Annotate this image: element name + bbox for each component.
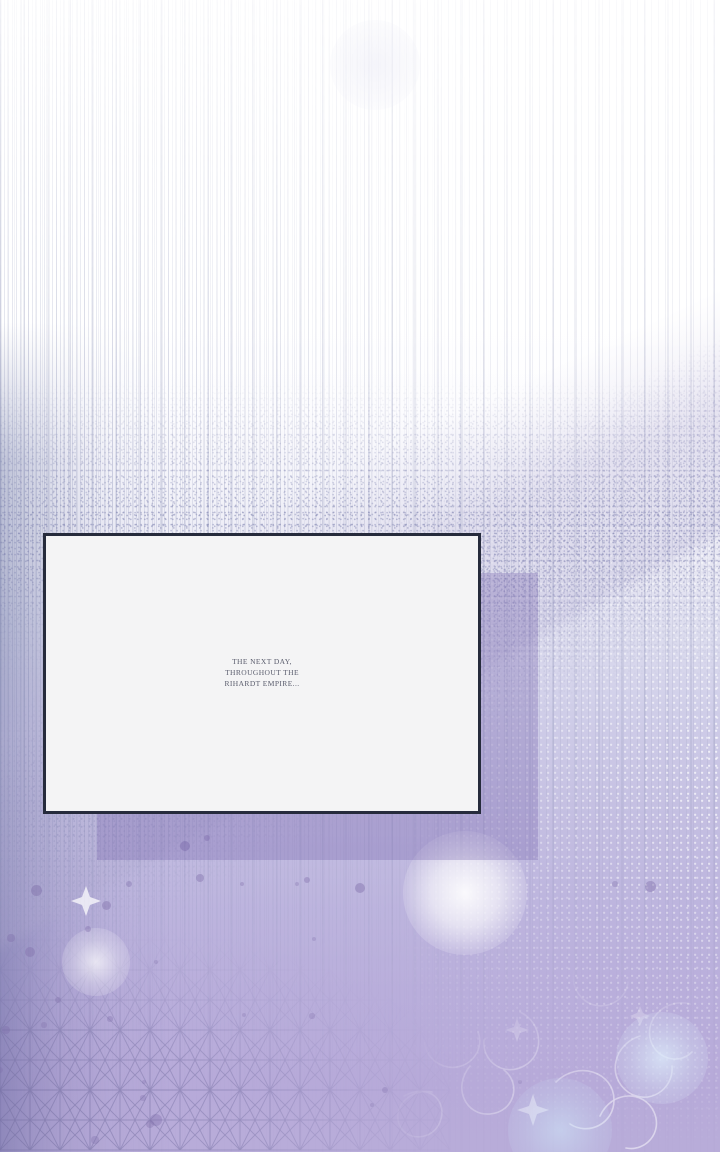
- caption-text: THE NEXT DAY, THROUGHOUT THE RIHARDT EMP…: [46, 657, 478, 689]
- decor-dot: [31, 885, 42, 896]
- glow-center-bottom: [403, 831, 527, 955]
- decor-dot: [85, 926, 91, 932]
- caption-line-2: THROUGHOUT THE: [56, 668, 468, 679]
- decor-dot: [102, 901, 111, 910]
- panel-scene: THE NEXT DAY, THROUGHOUT THE RIHARDT EMP…: [0, 0, 720, 1152]
- decor-dot: [196, 874, 204, 882]
- caption-line-1: THE NEXT DAY,: [56, 657, 468, 668]
- decor-dot: [382, 1087, 389, 1094]
- decor-dot: [55, 997, 62, 1004]
- decor-dot: [146, 1120, 154, 1128]
- decor-dot: [204, 835, 210, 841]
- decor-dot: [304, 877, 311, 884]
- glow-top-flare: [330, 20, 420, 110]
- decor-dot: [309, 1013, 314, 1018]
- decor-dot: [25, 947, 35, 957]
- decor-dot: [355, 883, 365, 893]
- decor-dot: [612, 881, 617, 886]
- decor-dot: [142, 1080, 146, 1084]
- decor-dot: [242, 1013, 246, 1017]
- decor-dot: [140, 1095, 145, 1100]
- decor-dot: [150, 1114, 162, 1126]
- decor-dot: [645, 881, 656, 892]
- decor-dot: [126, 881, 133, 888]
- decor-dot: [2, 1026, 11, 1035]
- decor-dot: [240, 882, 245, 887]
- decor-dot: [180, 841, 190, 851]
- glow-left-lower: [62, 928, 130, 996]
- decor-dot: [154, 960, 158, 964]
- decor-dot: [41, 1022, 46, 1027]
- glow-bottom-center: [508, 1078, 612, 1152]
- decor-dot: [107, 1016, 113, 1022]
- decor-dot: [370, 1103, 375, 1108]
- caption-line-3: RIHARDT EMPIRE...: [56, 679, 468, 690]
- glow-right-lower: [616, 1012, 708, 1104]
- caption-box[interactable]: THE NEXT DAY, THROUGHOUT THE RIHARDT EMP…: [43, 533, 481, 814]
- decor-dot: [295, 882, 299, 886]
- decor-dot: [312, 937, 317, 942]
- decor-dot: [518, 1080, 523, 1085]
- decor-dot: [91, 1136, 98, 1143]
- decor-dot: [0, 1067, 3, 1073]
- decor-dot: [7, 934, 14, 941]
